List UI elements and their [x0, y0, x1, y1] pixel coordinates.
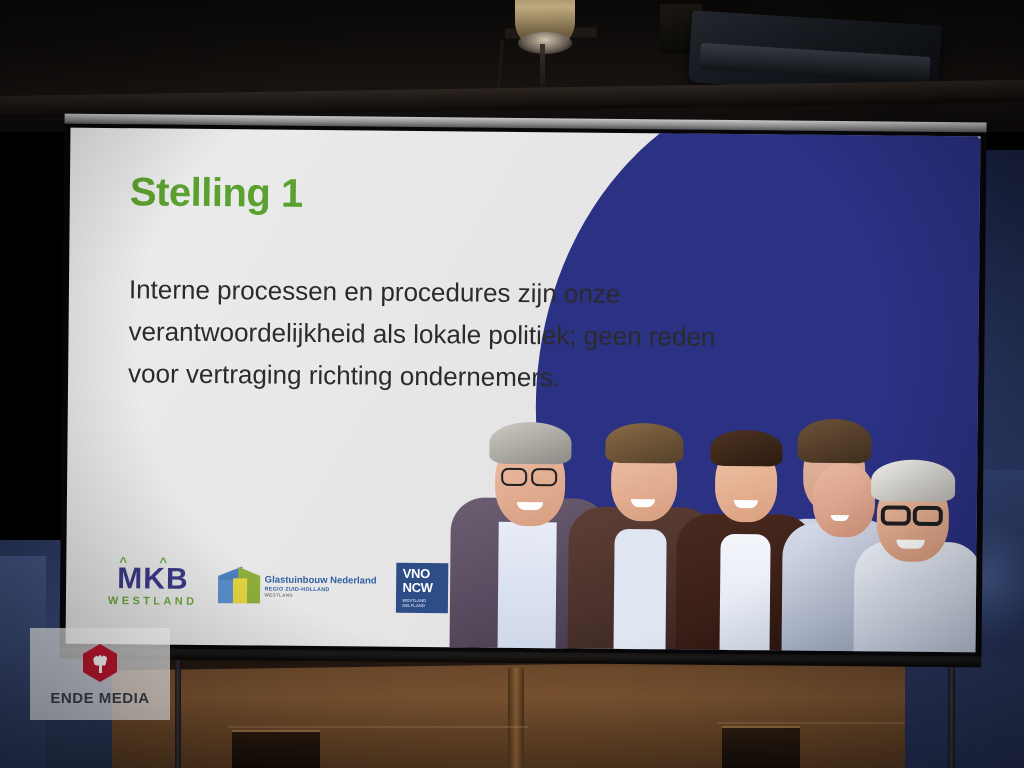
person-1-shirt: [498, 522, 557, 649]
logo-vno-ncw: VNO NCW WESTLAND DELFLAND: [396, 563, 448, 613]
logo-gn-line3: WESTLAND: [265, 592, 377, 598]
ende-media-logo-icon: [83, 644, 117, 682]
person-6-glasses: [881, 505, 911, 525]
watermark-text: ENDE MEDIA: [30, 690, 170, 707]
person-3-shirt: [720, 534, 771, 650]
greenhouse-wall-right: [246, 580, 259, 603]
person-1-glasses: [501, 468, 527, 486]
person-3-hair: [710, 430, 782, 467]
mkb-caret-icon: ^: [119, 555, 128, 568]
room-scene: Stelling 1 Interne processen en procedur…: [0, 0, 1024, 768]
person-1-smile: [517, 502, 543, 510]
greenhouse-icon: [217, 569, 259, 603]
logo-vno-line2: NCW: [402, 580, 448, 594]
wall-recess-right: [722, 726, 800, 768]
person-6: [854, 451, 981, 652]
person-6-glasses: [913, 506, 943, 526]
logo-vno-line3: WESTLAND DELFLAND: [402, 598, 448, 609]
screen-support-pole-right: [948, 658, 955, 768]
mkb-caret-icon: ^: [159, 555, 168, 568]
screen-support-pole-left: [175, 652, 181, 768]
screen-border: Stelling 1 Interne processen en procedur…: [60, 124, 987, 657]
projection-screen: Stelling 1 Interne processen en procedur…: [59, 114, 986, 668]
logo-vno-line1: VNO: [403, 567, 449, 581]
greenhouse-wall-mid: [232, 578, 246, 603]
wall-recess-left: [232, 730, 320, 768]
person-6-smile: [896, 540, 924, 549]
wall-seam: [508, 668, 524, 768]
logo-gn-text: Glastuinbouw Nederland REGIO ZUID-HOLLAN…: [265, 576, 377, 599]
logo-glastuinbouw-nederland: Glastuinbouw Nederland REGIO ZUID-HOLLAN…: [217, 569, 376, 605]
logo-mkb-westland: ^ ^ MKB WESTLAND: [108, 564, 198, 608]
group-photo: [450, 367, 973, 652]
person-2-hair: [605, 423, 683, 464]
person-1-glasses: [531, 468, 557, 486]
ceiling-light-glow: [518, 32, 572, 54]
person-1-hair: [489, 422, 571, 465]
slide-title: Stelling 1: [130, 170, 303, 217]
greenhouse-wall-left: [217, 580, 232, 603]
logo-row: ^ ^ MKB WESTLAND: [108, 560, 449, 613]
presentation-slide: Stelling 1 Interne processen en procedur…: [66, 128, 981, 653]
wall-panel-line: [228, 726, 528, 728]
tulip-icon: [93, 655, 108, 672]
watermark: ENDE MEDIA: [30, 628, 170, 720]
person-6-hair: [871, 459, 955, 502]
logo-mkb-wordmark: ^ ^ MKB: [117, 564, 189, 595]
person-2-shirt: [614, 529, 667, 649]
logo-mkb-subtext: WESTLAND: [108, 596, 198, 608]
